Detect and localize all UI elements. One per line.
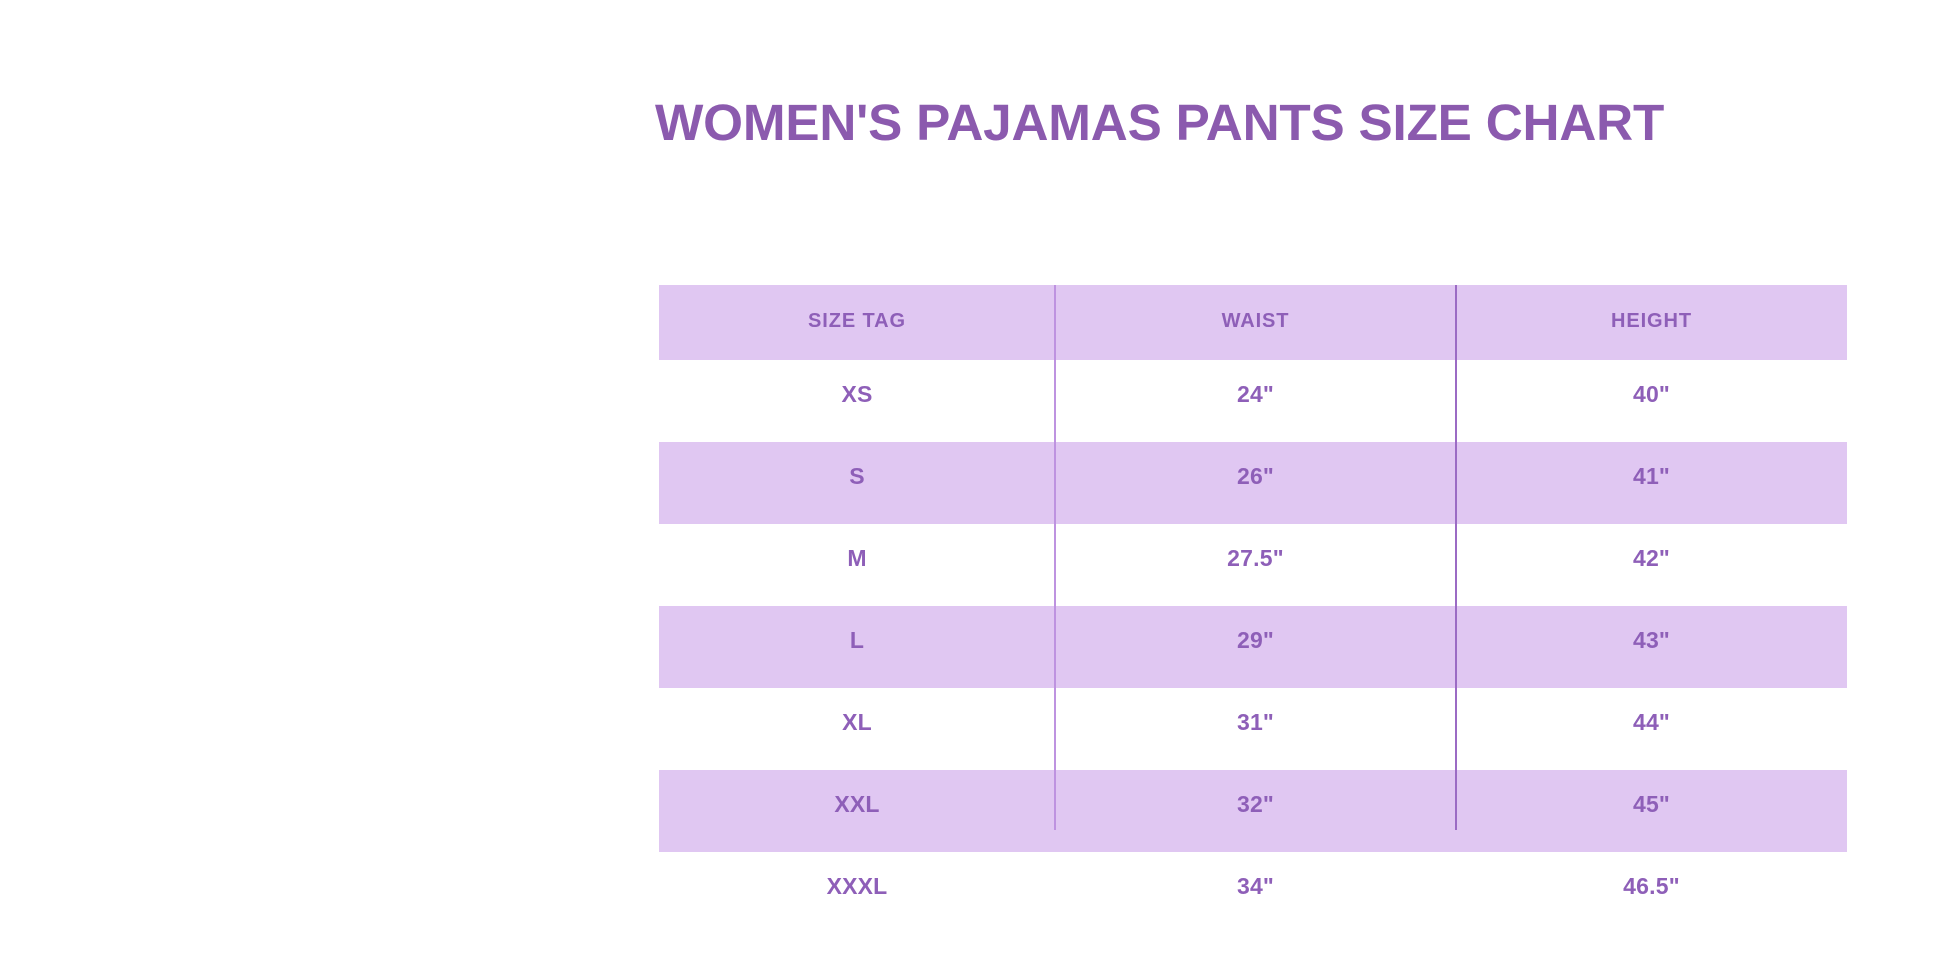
size-chart-page: WOMEN'S PAJAMAS PANTS SIZE CHART SIZE TA… <box>0 0 1946 973</box>
cell-waist: 29" <box>1055 606 1456 688</box>
table-row: XL31"44" <box>659 688 1847 770</box>
cell-size-tag: XXXL <box>659 852 1055 934</box>
table-header-row: SIZE TAG WAIST HEIGHT <box>659 285 1847 360</box>
table-row: M27.5"42" <box>659 524 1847 606</box>
column-header-size-tag: SIZE TAG <box>659 285 1055 360</box>
cell-waist: 34" <box>1055 852 1456 934</box>
table-row: XS24"40" <box>659 360 1847 442</box>
cell-size-tag: L <box>659 606 1055 688</box>
cell-height: 42" <box>1456 524 1847 606</box>
cell-height: 45" <box>1456 770 1847 852</box>
cell-size-tag: XS <box>659 360 1055 442</box>
cell-height: 40" <box>1456 360 1847 442</box>
column-header-height: HEIGHT <box>1456 285 1847 360</box>
cell-height: 46.5" <box>1456 852 1847 934</box>
cell-height: 43" <box>1456 606 1847 688</box>
cell-size-tag: M <box>659 524 1055 606</box>
cell-waist: 24" <box>1055 360 1456 442</box>
table-header: SIZE TAG WAIST HEIGHT <box>659 285 1847 360</box>
cell-size-tag: XL <box>659 688 1055 770</box>
cell-size-tag: XXL <box>659 770 1055 852</box>
size-chart-table: SIZE TAG WAIST HEIGHT XS24"40"S26"41"M27… <box>659 285 1847 934</box>
cell-height: 41" <box>1456 442 1847 524</box>
page-title: WOMEN'S PAJAMAS PANTS SIZE CHART <box>655 92 1931 154</box>
cell-height: 44" <box>1456 688 1847 770</box>
cell-waist: 27.5" <box>1055 524 1456 606</box>
table-row: XXL32"45" <box>659 770 1847 852</box>
table-row: L29"43" <box>659 606 1847 688</box>
table-body: XS24"40"S26"41"M27.5"42"L29"43"XL31"44"X… <box>659 360 1847 934</box>
cell-waist: 32" <box>1055 770 1456 852</box>
cell-waist: 26" <box>1055 442 1456 524</box>
cell-waist: 31" <box>1055 688 1456 770</box>
cell-size-tag: S <box>659 442 1055 524</box>
table-row: S26"41" <box>659 442 1847 524</box>
column-header-waist: WAIST <box>1055 285 1456 360</box>
table-row: XXXL34"46.5" <box>659 852 1847 934</box>
